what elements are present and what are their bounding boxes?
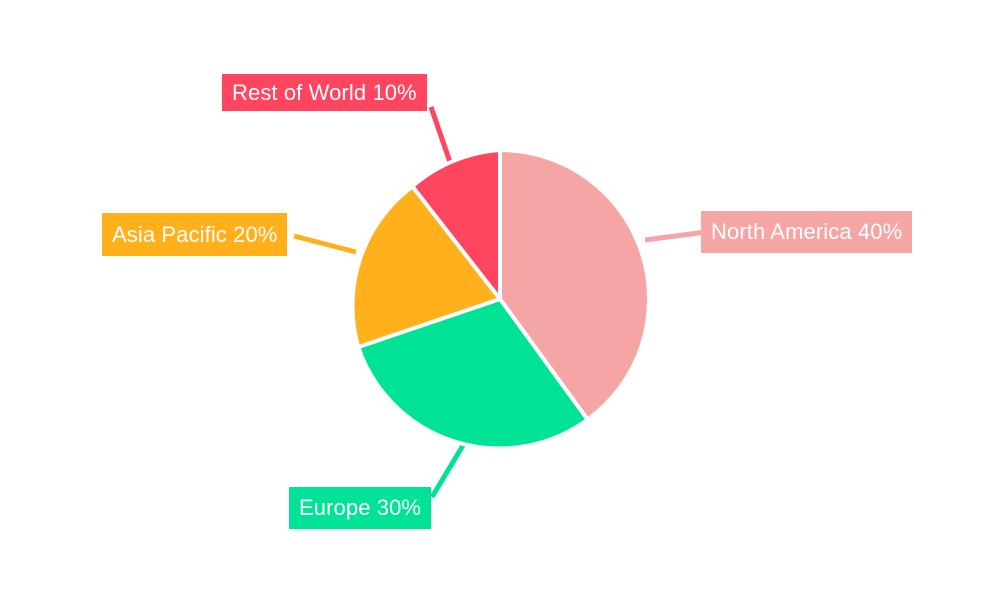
leader-line-europe [432,442,465,497]
leader-line-north-america [645,232,706,240]
pie-chart-figure: North America 40% Europe 30% Asia Pacifi… [0,0,1000,600]
data-label-europe-text: Europe 30% [299,497,421,519]
data-label-asia-pacific[interactable]: Asia Pacific 20% [102,213,287,256]
pie-slices [352,150,649,448]
data-label-rest-of-world[interactable]: Rest of World 10% [222,74,427,111]
data-label-asia-pacific-text: Asia Pacific 20% [112,224,277,246]
data-label-rest-of-world-text: Rest of World 10% [232,82,417,104]
data-label-north-america-text: North America 40% [711,221,902,243]
data-label-europe[interactable]: Europe 30% [289,487,431,529]
pie-chart-canvas [0,0,1000,600]
data-label-north-america[interactable]: North America 40% [701,211,912,253]
leader-line-asia-pacific [294,236,356,252]
leader-line-rest-of-world [431,107,452,168]
